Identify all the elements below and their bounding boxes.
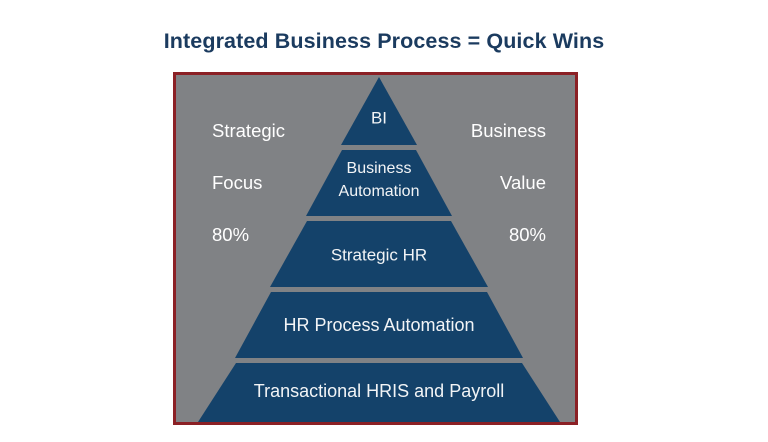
pyramid-tier-4[interactable]: HR Process Automation	[235, 292, 523, 358]
pyramid-tier-2-label-line2: Automation	[339, 183, 420, 200]
pyramid-tier-2-label-line1: Business	[347, 160, 412, 177]
pyramid-tier-1-label: BI	[371, 108, 387, 127]
caption-right-line3: 80%	[471, 222, 546, 248]
pyramid-tier-3-label: Strategic HR	[331, 245, 427, 264]
caption-left-line3: 80%	[212, 222, 285, 248]
caption-business-value: Business Value 80%	[471, 92, 546, 274]
pyramid-tier-5-label: Transactional HRIS and Payroll	[254, 381, 504, 401]
caption-right-line1: Business	[471, 118, 546, 144]
pyramid-tier-3[interactable]: Strategic HR	[270, 221, 488, 287]
caption-left-line2: Focus	[212, 170, 285, 196]
pyramid-tier-5[interactable]: Transactional HRIS and Payroll	[198, 363, 560, 422]
pyramid-tier-1[interactable]: BI	[341, 77, 417, 145]
page-title: Integrated Business Process = Quick Wins	[0, 29, 768, 54]
pyramid-tier-2[interactable]: Business Automation	[306, 150, 452, 216]
pyramid-diagram-panel: BI Business Automation Strategic HR HR P…	[173, 72, 578, 425]
caption-left-line1: Strategic	[212, 118, 285, 144]
caption-right-line2: Value	[471, 170, 546, 196]
caption-strategic-focus: Strategic Focus 80%	[212, 92, 285, 274]
pyramid-tier-4-label: HR Process Automation	[283, 315, 474, 335]
